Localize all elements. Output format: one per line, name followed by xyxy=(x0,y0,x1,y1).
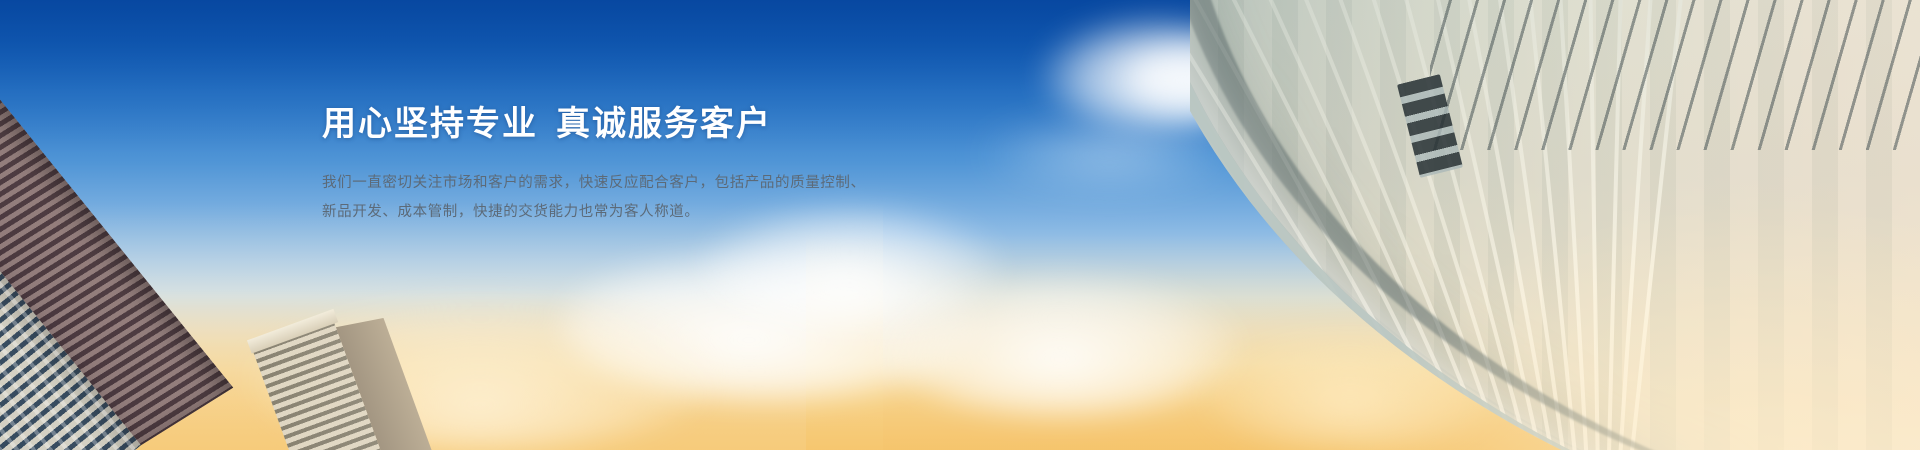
headline-part-2: 真诚服务客户 xyxy=(556,104,772,144)
banner-headline: 用心坚持专业真诚服务客户 xyxy=(322,104,942,145)
headline-part-1: 用心坚持专业 xyxy=(322,104,538,144)
right-glass-tower xyxy=(1190,0,1920,450)
banner-body-line: 新品开发、成本管制，快捷的交货能力也常为客人称道。 xyxy=(322,198,942,227)
glass-tower-sun-glow xyxy=(1330,200,1920,450)
hero-banner: 用心坚持专业真诚服务客户 我们一直密切关注市场和客户的需求，快速反应配合客户，包… xyxy=(0,0,1920,450)
banner-body-text: 我们一直密切关注市场和客户的需求，快速反应配合客户，包括产品的质量控制、 新品开… xyxy=(322,169,942,227)
banner-text-block: 用心坚持专业真诚服务客户 我们一直密切关注市场和客户的需求，快速反应配合客户，包… xyxy=(322,104,942,227)
glass-tower-top-fins xyxy=(1430,0,1920,150)
banner-body-line: 我们一直密切关注市场和客户的需求，快速反应配合客户，包括产品的质量控制、 xyxy=(322,169,942,198)
cloud xyxy=(880,275,1240,415)
